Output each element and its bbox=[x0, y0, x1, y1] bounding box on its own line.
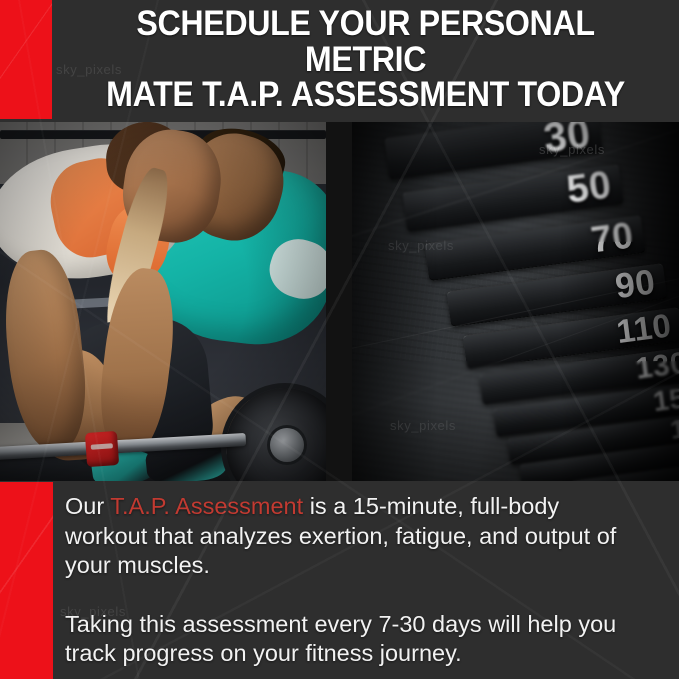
photo-vignette bbox=[0, 122, 326, 481]
page-title: SCHEDULE YOUR PERSONAL METRIC MATE T.A.P… bbox=[77, 6, 654, 113]
page-title-line-1: SCHEDULE YOUR PERSONAL METRIC bbox=[136, 4, 594, 79]
photo-vignette bbox=[352, 122, 679, 481]
page-title-line-2: MATE T.A.P. ASSESSMENT TODAY bbox=[90, 77, 641, 113]
image-band: 30 50 70 90 110 130 150 bbox=[0, 122, 679, 481]
red-accent-block-top bbox=[0, 0, 52, 119]
body-paragraph-1: Our T.A.P. Assessment is a 15-minute, fu… bbox=[65, 492, 645, 581]
weight-stack-photo: 30 50 70 90 110 130 150 bbox=[352, 122, 679, 481]
body-paragraph-2: Taking this assessment every 7-30 days w… bbox=[65, 610, 645, 669]
tap-assessment-accent: T.A.P. Assessment bbox=[110, 493, 303, 519]
accent-sheen bbox=[0, 0, 52, 119]
red-accent-block-bottom bbox=[0, 482, 53, 679]
body-copy: Our T.A.P. Assessment is a 15-minute, fu… bbox=[65, 492, 645, 669]
paragraph-1-lead: Our bbox=[65, 493, 110, 519]
deadlift-training-photo bbox=[0, 122, 326, 481]
header-banner: SCHEDULE YOUR PERSONAL METRIC MATE T.A.P… bbox=[52, 0, 679, 119]
accent-sheen bbox=[0, 482, 53, 679]
fitness-promo-poster: SCHEDULE YOUR PERSONAL METRIC MATE T.A.P… bbox=[0, 0, 679, 679]
